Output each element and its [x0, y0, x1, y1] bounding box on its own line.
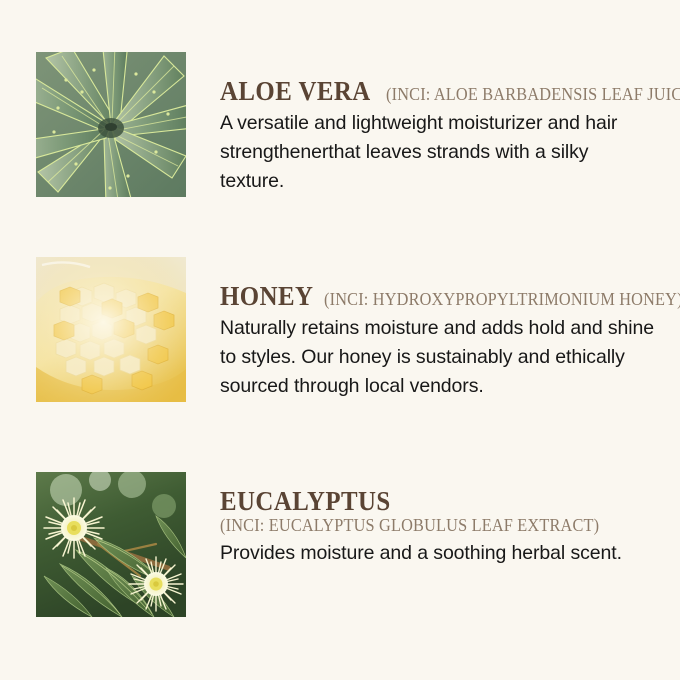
ingredient-inci: (INCI: HYDROXYPROPYLTRIMONIUM HONEY) — [324, 291, 680, 309]
ingredient-description: Provides moisture and a soothing herbal … — [220, 539, 656, 568]
ingredient-item-honey: HONEY(INCI: HYDROXYPROPYLTRIMONIUM HONEY… — [36, 257, 656, 402]
ingredient-heading-eucalyptus: EUCALYPTUS (INCI: EUCALYPTUS GLOBULUS LE… — [220, 488, 656, 535]
ingredient-item-eucalyptus: EUCALYPTUS (INCI: EUCALYPTUS GLOBULUS LE… — [36, 472, 656, 617]
ingredient-description: Naturally retains moisture and adds hold… — [220, 314, 658, 401]
ingredient-inci: (INCI: EUCALYPTUS GLOBULUS LEAF EXTRACT) — [220, 517, 625, 535]
ingredient-heading-aloe-vera: ALOE VERA(INCI: ALOE BARBADENSIS LEAF JU… — [220, 78, 680, 105]
ingredient-item-aloe-vera: ALOE VERA(INCI: ALOE BARBADENSIS LEAF JU… — [36, 52, 656, 197]
ingredient-text-aloe-vera: ALOE VERA(INCI: ALOE BARBADENSIS LEAF JU… — [186, 52, 680, 196]
ingredient-name: ALOE VERA — [220, 78, 371, 105]
ingredient-text-honey: HONEY(INCI: HYDROXYPROPYLTRIMONIUM HONEY… — [186, 257, 680, 401]
ingredient-text-eucalyptus: EUCALYPTUS (INCI: EUCALYPTUS GLOBULUS LE… — [186, 472, 656, 568]
ingredient-inci: (INCI: ALOE BARBADENSIS LEAF JUICE) — [386, 86, 680, 104]
honey-photo — [36, 257, 186, 402]
ingredient-name: HONEY — [220, 283, 313, 310]
ingredient-heading-honey: HONEY(INCI: HYDROXYPROPYLTRIMONIUM HONEY… — [220, 283, 680, 310]
ingredients-panel: ALOE VERA(INCI: ALOE BARBADENSIS LEAF JU… — [0, 0, 680, 680]
eucalyptus-photo — [36, 472, 186, 617]
ingredient-description: A versatile and lightweight moisturizer … — [220, 109, 640, 196]
ingredient-name: EUCALYPTUS — [220, 488, 391, 515]
aloe-vera-photo — [36, 52, 186, 197]
